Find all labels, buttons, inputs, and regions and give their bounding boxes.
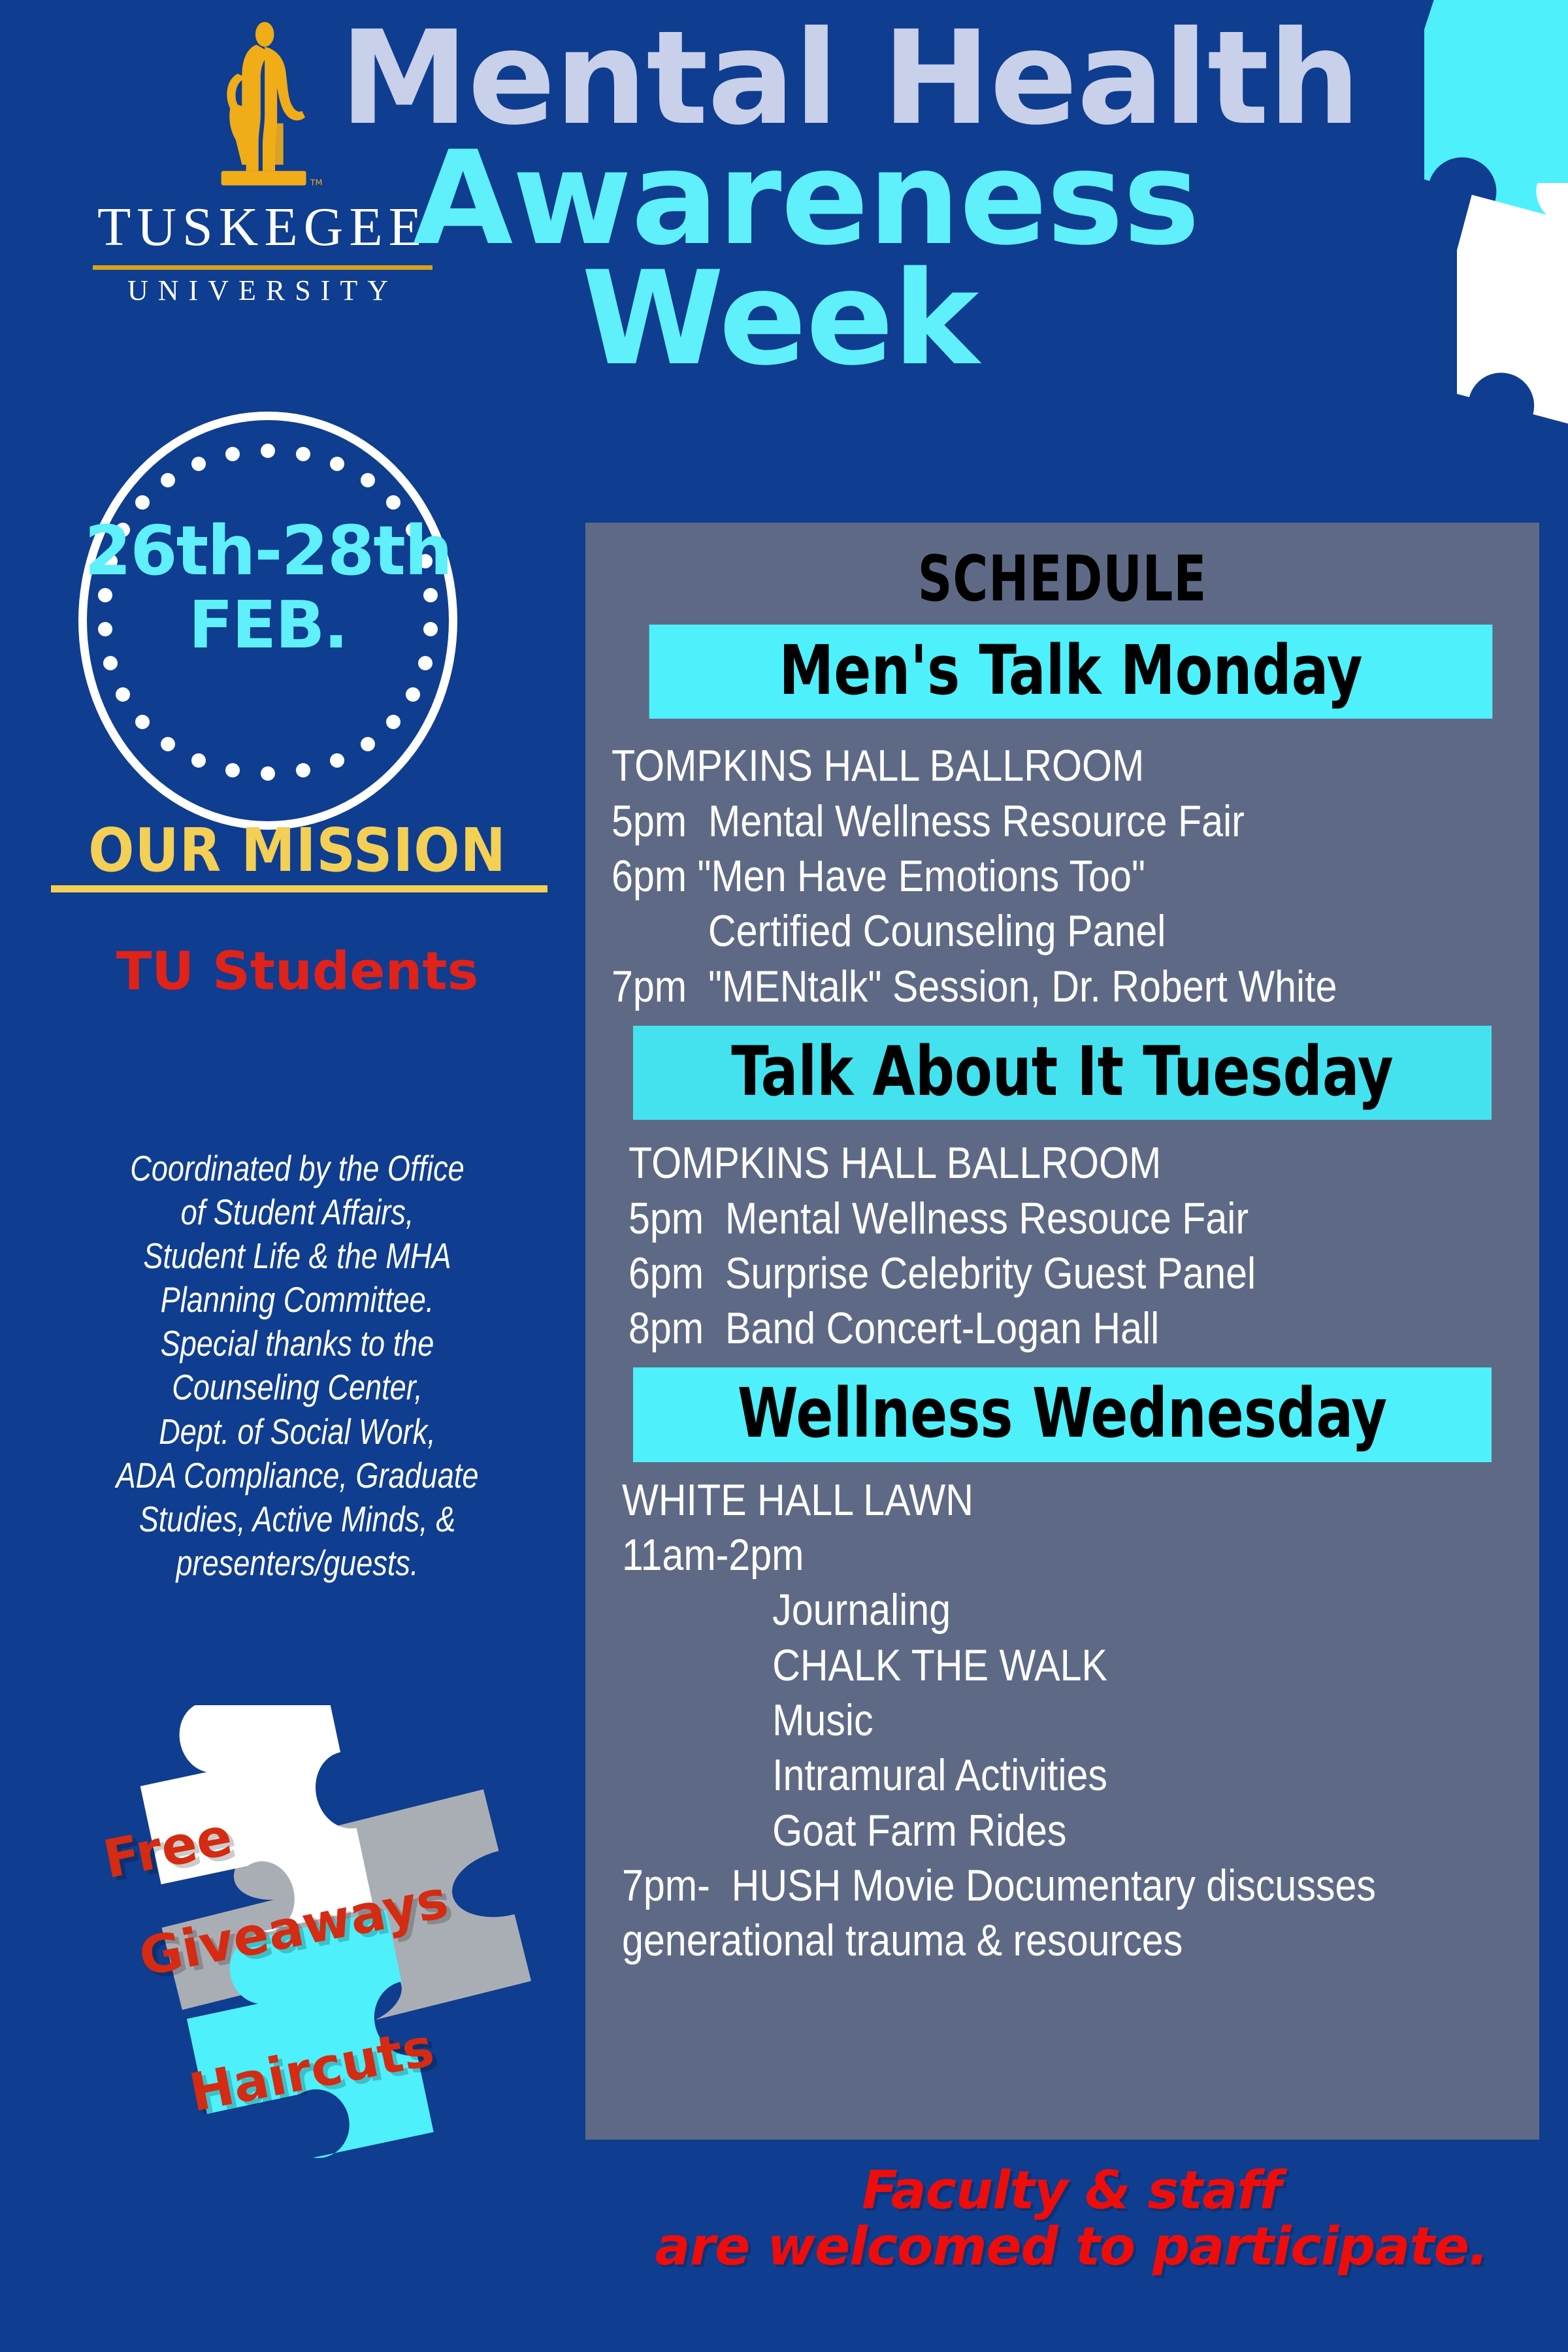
title-line-3: Week bbox=[581, 259, 1450, 379]
schedule-line: TOMPKINS HALL BALLROOM bbox=[612, 738, 1418, 793]
credits-line: Dept. of Social Work, bbox=[86, 1410, 509, 1454]
schedule-line: Goat Farm Rides bbox=[622, 1803, 1420, 1858]
schedule-line: Intramural Activities bbox=[622, 1748, 1420, 1803]
date-badge-days: 26th-28th bbox=[78, 513, 457, 589]
date-badge-month: FEB. bbox=[78, 589, 457, 662]
credits-line: of Student Affairs, bbox=[86, 1190, 509, 1234]
credits-line: Coordinated by the Office bbox=[86, 1147, 509, 1190]
day-header-wednesday: Wellness Wednesday bbox=[633, 1367, 1492, 1462]
day-body-monday: TOMPKINS HALL BALLROOM 5pm Mental Wellne… bbox=[585, 719, 1539, 1026]
faculty-banner-line-1: Faculty & staff bbox=[640, 2163, 1503, 2219]
mission-heading: OUR MISSION bbox=[46, 815, 549, 885]
credits-line: Studies, Active Minds, & bbox=[86, 1497, 509, 1541]
title-line-1: Mental Health bbox=[340, 18, 1450, 139]
puzzle-piece-white-top-right bbox=[1457, 183, 1568, 464]
schedule-line: Certified Counseling Panel bbox=[612, 904, 1418, 958]
schedule-line: TOMPKINS HALL BALLROOM bbox=[629, 1135, 1421, 1190]
credits-line: presenters/guests. bbox=[86, 1541, 509, 1585]
schedule-line: Music bbox=[622, 1693, 1420, 1748]
schedule-line: 11am-2pm bbox=[622, 1527, 1420, 1582]
schedule-line: CHALK THE WALK bbox=[622, 1638, 1420, 1693]
schedule-line: 8pm Band Concert-Logan Hall bbox=[629, 1301, 1421, 1356]
schedule-line: 7pm- HUSH Movie Documentary discusses bbox=[622, 1858, 1420, 1913]
schedule-line: WHITE HALL LAWN bbox=[622, 1473, 1420, 1527]
day-header-tuesday: Talk About It Tuesday bbox=[633, 1026, 1492, 1120]
schedule-line: 6pm Surprise Celebrity Guest Panel bbox=[629, 1246, 1421, 1301]
credits-line: ADA Compliance, Graduate bbox=[86, 1454, 509, 1497]
page-title: Mental Health Awareness Week bbox=[340, 18, 1450, 379]
faculty-banner-line-2: are welcomed to participate. bbox=[640, 2219, 1503, 2275]
date-badge-text: 26th-28th FEB. bbox=[78, 513, 457, 662]
date-badge: 26th-28th FEB. bbox=[78, 412, 457, 830]
day-header-monday: Men's Talk Monday bbox=[649, 625, 1493, 719]
schedule-line: 5pm Mental Wellness Resource Fair bbox=[612, 794, 1418, 849]
title-line-2: Awareness bbox=[413, 139, 1450, 259]
schedule-panel: SCHEDULE Men's Talk Monday TOMPKINS HALL… bbox=[585, 523, 1539, 2140]
svg-text:TM: TM bbox=[310, 178, 323, 188]
schedule-title: SCHEDULE bbox=[657, 523, 1468, 610]
faculty-banner: Faculty & staff are welcomed to particip… bbox=[640, 2163, 1503, 2276]
schedule-line: 6pm "Men Have Emotions Too" bbox=[612, 849, 1418, 904]
credits-line: Counseling Center, bbox=[86, 1365, 509, 1409]
credits-line: Student Life & the MHA bbox=[86, 1234, 509, 1278]
mission-underline bbox=[51, 885, 547, 892]
credits-line: Planning Committee. bbox=[86, 1278, 509, 1322]
poster-canvas: TM TUSKEGEE UNIVERSITY Mental Health Awa… bbox=[0, 0, 1568, 2352]
credits-line: Special thanks to the bbox=[86, 1322, 509, 1365]
giveaways-puzzle-graphic: Free Giveaways Haircuts bbox=[78, 1705, 601, 2221]
mission-audience: TU Students bbox=[46, 941, 549, 1002]
day-body-wednesday: WHITE HALL LAWN 11am-2pm Journaling CHAL… bbox=[585, 1462, 1539, 1980]
schedule-line: 7pm "MENtalk" Session, Dr. Robert White bbox=[612, 959, 1418, 1014]
schedule-line: Journaling bbox=[622, 1582, 1420, 1637]
credits-block: Coordinated by the Office of Student Aff… bbox=[86, 1147, 509, 1585]
schedule-line: 5pm Mental Wellness Resouce Fair bbox=[629, 1191, 1421, 1246]
tuskegee-statue-icon: TM bbox=[201, 20, 325, 196]
day-body-tuesday: TOMPKINS HALL BALLROOM 5pm Mental Wellne… bbox=[585, 1120, 1539, 1367]
schedule-line: generational trauma & resources bbox=[622, 1913, 1420, 1968]
